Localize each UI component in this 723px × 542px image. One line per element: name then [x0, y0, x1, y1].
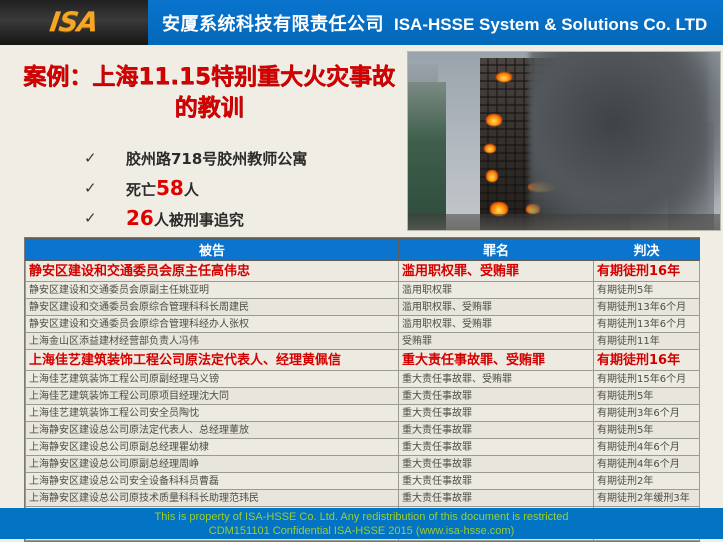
table-row: 上海静安区建设总公司原法定代表人、总经理董放 重大责任事故罪 有期徒刑5年	[26, 422, 700, 439]
table-row: 上海静安区建设总公司原技术质量科科长助理范玮民 重大责任事故罪 有期徒刑2年缓刑…	[26, 490, 700, 507]
table-row: 上海静安区建设总公司安全设备科科员曹磊 重大责任事故罪 有期徒刑2年	[26, 473, 700, 490]
header-title-cn: 安厦系统科技有限责任公司	[162, 10, 384, 36]
list-item-label: 胶州路718号胶州教师公寓	[126, 148, 307, 169]
cell-charge: 滥用职权罪、受贿罪	[399, 299, 594, 316]
check-icon: ✓	[84, 149, 126, 167]
table-row: 上海静安区建设总公司原副总经理周峥 重大责任事故罪 有期徒刑4年6个月	[26, 456, 700, 473]
cell-sentence: 有期徒刑4年6个月	[594, 456, 700, 473]
cell-charge: 滥用职权罪	[399, 282, 594, 299]
prosecuted-count: 26	[126, 206, 154, 230]
table-row: 上海静安区建设总公司原副总经理瞿幼棣 重大责任事故罪 有期徒刑4年6个月	[26, 439, 700, 456]
cell-defendant: 上海静安区建设总公司原副总经理周峥	[26, 456, 399, 473]
column-header-defendant: 被告	[26, 239, 399, 261]
column-header-charge: 罪名	[399, 239, 594, 261]
verdict-table: 被告 罪名 判决 静安区建设和交通委员会原主任高伟忠 滥用职权罪、受贿罪 有期徒…	[25, 238, 700, 541]
cell-sentence: 有期徒刑13年6个月	[594, 316, 700, 333]
cell-sentence: 有期徒刑5年	[594, 282, 700, 299]
cell-sentence: 有期徒刑11年	[594, 333, 700, 350]
page-title: 案例：上海11.15特别重大火灾事故 的教训	[14, 62, 404, 124]
photo-flame	[486, 170, 498, 182]
footer-line-1: This is property of ISA-HSSE Co. Ltd. An…	[155, 510, 569, 524]
slide-footer: This is property of ISA-HSSE Co. Ltd. An…	[0, 508, 723, 539]
table-row: 静安区建设和交通委员会原副主任姚亚明 滥用职权罪 有期徒刑5年	[26, 282, 700, 299]
cell-sentence: 有期徒刑2年缓刑3年	[594, 490, 700, 507]
footer-line-2: CDM151101 Confidential ISA-HSSE 2015 (ww…	[209, 524, 514, 538]
cell-defendant: 上海静安区建设总公司安全设备科科员曹磊	[26, 473, 399, 490]
photo-left-building	[408, 82, 446, 230]
list-item-label: 26人被刑事追究	[126, 206, 244, 230]
prosecuted-suffix: 人被刑事追究	[154, 211, 244, 229]
cell-charge: 重大责任事故罪	[399, 456, 594, 473]
cell-defendant: 上海佳艺建筑装饰工程公司原法定代表人、经理黄佩信	[26, 350, 399, 371]
cell-sentence: 有期徒刑13年6个月	[594, 299, 700, 316]
header-title-en: ISA-HSSE System & Solutions Co. LTD	[394, 15, 707, 35]
logo-text: ISA	[48, 7, 100, 38]
cell-sentence: 有期徒刑5年	[594, 422, 700, 439]
cell-defendant: 上海佳艺建筑装饰工程公司原项目经理沈大同	[26, 388, 399, 405]
check-icon: ✓	[84, 209, 126, 227]
table-row: 静安区建设和交通委员会原综合管理科科长周建民 滥用职权罪、受贿罪 有期徒刑13年…	[26, 299, 700, 316]
header-title-group: 安厦系统科技有限责任公司 ISA-HSSE System & Solutions…	[148, 10, 707, 36]
cell-charge: 滥用职权罪、受贿罪	[399, 261, 594, 282]
verdict-table-body: 静安区建设和交通委员会原主任高伟忠 滥用职权罪、受贿罪 有期徒刑16年 静安区建…	[26, 261, 700, 541]
cell-charge: 重大责任事故罪	[399, 388, 594, 405]
photo-smoke-right	[530, 51, 721, 231]
cell-defendant: 静安区建设和交通委员会原主任高伟忠	[26, 261, 399, 282]
cell-sentence: 有期徒刑5年	[594, 388, 700, 405]
check-icon: ✓	[84, 179, 126, 197]
cell-defendant: 上海佳艺建筑装饰工程公司原副经理马义镑	[26, 371, 399, 388]
photo-flame	[484, 144, 496, 153]
photo-flame	[496, 72, 512, 82]
verdict-table-wrapper: 被告 罪名 判决 静安区建设和交通委员会原主任高伟忠 滥用职权罪、受贿罪 有期徒…	[24, 237, 700, 542]
cell-defendant: 上海佳艺建筑装饰工程公司安全员陶忱	[26, 405, 399, 422]
cell-charge: 重大责任事故罪	[399, 473, 594, 490]
page-title-line2: 的教训	[14, 93, 404, 124]
table-row: 上海金山区添益建材经营部负责人冯伟 受贿罪 有期徒刑11年	[26, 333, 700, 350]
cell-defendant: 静安区建设和交通委员会原综合管理科经办人张权	[26, 316, 399, 333]
photo-flame	[486, 114, 502, 126]
list-item: ✓ 死亡58人	[84, 173, 414, 203]
list-item: ✓ 胶州路718号胶州教师公寓	[84, 143, 414, 173]
header-divider	[0, 45, 723, 48]
cell-defendant: 上海静安区建设总公司原副总经理瞿幼棣	[26, 439, 399, 456]
cell-charge: 受贿罪	[399, 333, 594, 350]
table-row: 静安区建设和交通委员会原主任高伟忠 滥用职权罪、受贿罪 有期徒刑16年	[26, 261, 700, 282]
bullet-list: ✓ 胶州路718号胶州教师公寓 ✓ 死亡58人 ✓ 26人被刑事追究	[84, 143, 414, 233]
page-title-line1: 案例：上海11.15特别重大火灾事故	[14, 62, 404, 93]
table-row: 上海佳艺建筑装饰工程公司原副经理马义镑 重大责任事故罪、受贿罪 有期徒刑15年6…	[26, 371, 700, 388]
cell-defendant: 上海静安区建设总公司原法定代表人、总经理董放	[26, 422, 399, 439]
death-count: 58	[156, 176, 184, 200]
cell-sentence: 有期徒刑2年	[594, 473, 700, 490]
cell-charge: 重大责任事故罪	[399, 439, 594, 456]
death-suffix: 人	[184, 181, 199, 199]
cell-defendant: 上海金山区添益建材经营部负责人冯伟	[26, 333, 399, 350]
cell-sentence: 有期徒刑16年	[594, 261, 700, 282]
list-item-label: 死亡58人	[126, 176, 199, 200]
cell-sentence: 有期徒刑15年6个月	[594, 371, 700, 388]
column-header-sentence: 判决	[594, 239, 700, 261]
cell-defendant: 上海静安区建设总公司原技术质量科科长助理范玮民	[26, 490, 399, 507]
death-prefix: 死亡	[126, 181, 156, 199]
cell-defendant: 静安区建设和交通委员会原副主任姚亚明	[26, 282, 399, 299]
cell-charge: 重大责任事故罪	[399, 422, 594, 439]
cell-sentence: 有期徒刑3年6个月	[594, 405, 700, 422]
table-header-row: 被告 罪名 判决	[26, 239, 700, 261]
table-row: 上海佳艺建筑装饰工程公司安全员陶忱 重大责任事故罪 有期徒刑3年6个月	[26, 405, 700, 422]
cell-charge: 重大责任事故罪	[399, 405, 594, 422]
cell-charge: 重大责任事故罪、受贿罪	[399, 350, 594, 371]
table-row: 上海佳艺建筑装饰工程公司原法定代表人、经理黄佩信 重大责任事故罪、受贿罪 有期徒…	[26, 350, 700, 371]
table-row: 上海佳艺建筑装饰工程公司原项目经理沈大同 重大责任事故罪 有期徒刑5年	[26, 388, 700, 405]
cell-sentence: 有期徒刑4年6个月	[594, 439, 700, 456]
list-item: ✓ 26人被刑事追究	[84, 203, 414, 233]
cell-sentence: 有期徒刑16年	[594, 350, 700, 371]
cell-charge: 滥用职权罪、受贿罪	[399, 316, 594, 333]
app-header: ISA 安厦系统科技有限责任公司 ISA-HSSE System & Solut…	[0, 0, 723, 45]
photo-ground	[408, 214, 720, 230]
table-row: 静安区建设和交通委员会原综合管理科经办人张权 滥用职权罪、受贿罪 有期徒刑13年…	[26, 316, 700, 333]
fire-photo	[407, 51, 721, 231]
company-logo: ISA	[0, 0, 148, 45]
cell-defendant: 静安区建设和交通委员会原综合管理科科长周建民	[26, 299, 399, 316]
cell-charge: 重大责任事故罪	[399, 490, 594, 507]
cell-charge: 重大责任事故罪、受贿罪	[399, 371, 594, 388]
